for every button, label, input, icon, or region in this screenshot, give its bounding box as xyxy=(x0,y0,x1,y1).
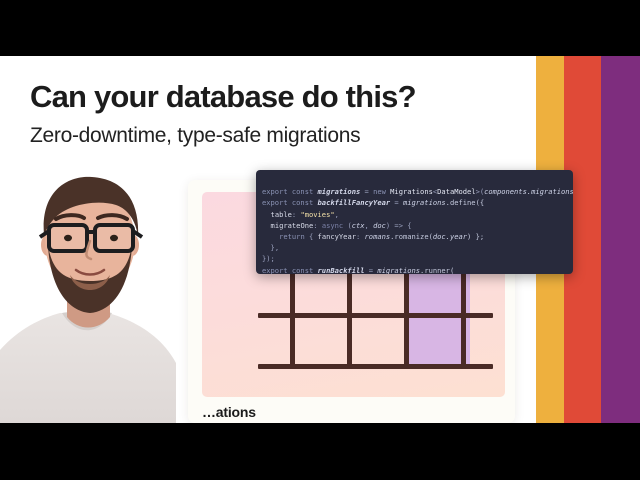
video-frame: Can your database do this? Zero-downtime… xyxy=(0,0,640,480)
presenter-illustration xyxy=(0,163,200,423)
code-line: export const migrations = new Migrations… xyxy=(262,187,573,196)
grid-line-vertical xyxy=(404,262,409,369)
slide-heading-group: Can your database do this? Zero-downtime… xyxy=(30,80,416,148)
presenter-video-cutout xyxy=(0,163,200,423)
grid-line-vertical xyxy=(461,262,466,369)
code-line: return { fancyYear: romans.romanize(doc.… xyxy=(262,232,484,241)
slide-title: Can your database do this? xyxy=(30,80,416,115)
code-line: }, xyxy=(262,243,279,252)
card-caption-title: …ations xyxy=(202,404,505,420)
grid-illustration xyxy=(258,262,493,377)
slide-stage: Can your database do this? Zero-downtime… xyxy=(0,56,640,423)
code-snippet-text: export const migrations = new Migrations… xyxy=(256,175,573,274)
code-line: table: "movies", xyxy=(262,210,339,219)
letterbox-bar-bottom xyxy=(0,423,640,480)
letterbox-bar-top xyxy=(0,0,640,56)
code-line: export const runBackfill = migrations.ru… xyxy=(262,266,454,274)
color-bar-purple xyxy=(601,56,640,423)
card-caption: …ations …ork for long running data migra… xyxy=(202,404,505,423)
code-line: export const backfillFancyYear = migrati… xyxy=(262,198,484,207)
slide-subtitle: Zero-downtime, type-safe migrations xyxy=(30,123,416,148)
code-line: }); xyxy=(262,254,275,263)
code-snippet-panel: export const migrations = new Migrations… xyxy=(256,170,573,274)
code-line: migrateOne: async (ctx, doc) => { xyxy=(262,221,412,230)
grid-line-vertical xyxy=(347,262,352,369)
grid-line-vertical xyxy=(290,262,295,369)
